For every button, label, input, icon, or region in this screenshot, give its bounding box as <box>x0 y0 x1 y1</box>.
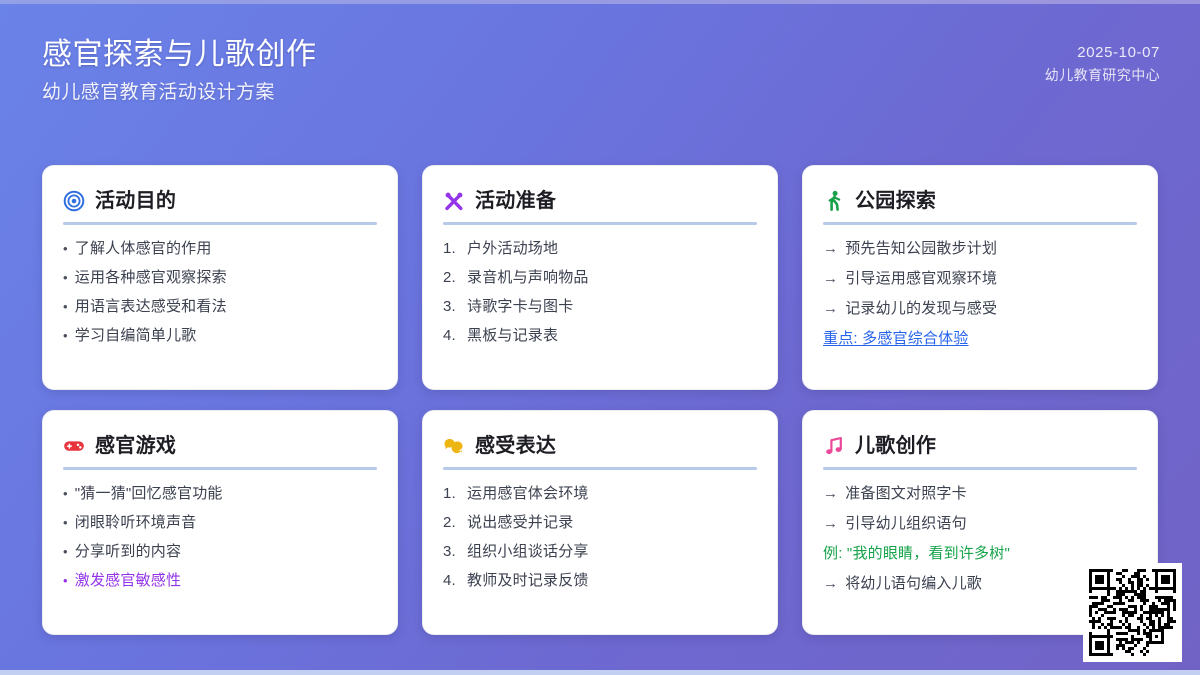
list-marker: → <box>823 483 838 504</box>
list-item: 1.户外活动场地 <box>443 238 757 259</box>
card-title: 公园探索 <box>855 188 936 214</box>
card-body: 1.运用感官体会环境2.说出感受并记录3.组织小组谈话分享4.教师及时记录反馈 <box>443 483 757 591</box>
card-divider <box>63 467 377 470</box>
list-marker: 3. <box>443 296 460 317</box>
list-marker: 4. <box>443 325 460 346</box>
list-marker: 1. <box>443 238 460 259</box>
title-block: 感官探索与儿歌创作 幼儿感官教育活动设计方案 <box>42 36 317 106</box>
list-marker: • <box>63 238 68 259</box>
card-title: 儿歌创作 <box>855 433 936 459</box>
card-5: 感受表达1.运用感官体会环境2.说出感受并记录3.组织小组谈话分享4.教师及时记… <box>422 410 778 635</box>
bullseye-target-icon <box>63 190 85 212</box>
list-item: 1.运用感官体会环境 <box>443 483 757 504</box>
card-body: 1.户外活动场地2.录音机与声响物品3.诗歌字卡与图卡4.黑板与记录表 <box>443 238 757 346</box>
list-item-text: 分享听到的内容 <box>75 541 377 562</box>
card-title: 活动目的 <box>95 188 176 214</box>
list-item: 2.录音机与声响物品 <box>443 267 757 288</box>
list-item: •用语言表达感受和看法 <box>63 296 377 317</box>
list-marker: 1. <box>443 483 460 504</box>
list-item-text: 教师及时记录反馈 <box>467 570 757 591</box>
music-note-icon <box>823 435 845 457</box>
list-marker: • <box>63 541 68 562</box>
card-divider <box>823 467 1137 470</box>
card-header: 儿歌创作 <box>823 432 1137 460</box>
speech-bubbles-icon <box>443 435 465 457</box>
list-item: 4.教师及时记录反馈 <box>443 570 757 591</box>
page-subtitle: 幼儿感官教育活动设计方案 <box>42 80 317 106</box>
list-item-text: 引导运用感官观察环境 <box>845 268 1137 289</box>
list-item: •学习自编简单儿歌 <box>63 325 377 346</box>
list-item: 2.说出感受并记录 <box>443 512 757 533</box>
list-item-text: 了解人体感官的作用 <box>75 238 377 259</box>
list-item: →引导运用感官观察环境 <box>823 268 1137 289</box>
list-marker: • <box>63 325 68 346</box>
card-title: 感官游戏 <box>95 433 176 459</box>
list-item-text: 预先告知公园散步计划 <box>845 238 1137 259</box>
slide-root: 感官探索与儿歌创作 幼儿感官教育活动设计方案 2025-10-07 幼儿教育研究… <box>0 0 1200 675</box>
list-item: •"猜一猜"回忆感官功能 <box>63 483 377 504</box>
list-item-text: 重点: 多感官综合体验 <box>823 328 1137 349</box>
list-item-text: 组织小组谈话分享 <box>467 541 757 562</box>
card-divider <box>443 467 757 470</box>
list-marker: • <box>63 483 68 504</box>
card-header: 感官游戏 <box>63 432 377 460</box>
list-item: •闭眼聆听环境声音 <box>63 512 377 533</box>
list-marker: 3. <box>443 541 460 562</box>
card-header: 活动目的 <box>63 187 377 215</box>
list-marker: → <box>823 238 838 259</box>
list-item-text: 记录幼儿的发现与感受 <box>845 298 1137 319</box>
list-item-text: 用语言表达感受和看法 <box>75 296 377 317</box>
list-item-text: 例: "我的眼睛，看到许多树" <box>823 543 1137 564</box>
qr-code-icon <box>1089 569 1176 656</box>
list-item: →预先告知公园散步计划 <box>823 238 1137 259</box>
page-title: 感官探索与儿歌创作 <box>42 36 317 74</box>
hammer-and-wrench-icon <box>443 190 465 212</box>
organization-text: 幼儿教育研究中心 <box>1045 64 1160 86</box>
list-item-text: 运用感官体会环境 <box>467 483 757 504</box>
list-item-text: 引导幼儿组织语句 <box>845 513 1137 534</box>
list-marker: 2. <box>443 512 460 533</box>
list-item-text: 运用各种感官观察探索 <box>75 267 377 288</box>
list-item: 4.黑板与记录表 <box>443 325 757 346</box>
list-item: 例: "我的眼睛，看到许多树" <box>823 543 1137 564</box>
list-item-text: 学习自编简单儿歌 <box>75 325 377 346</box>
date-text: 2025-10-07 <box>1045 42 1160 64</box>
list-item: 3.组织小组谈话分享 <box>443 541 757 562</box>
card-title: 感受表达 <box>475 433 556 459</box>
game-controller-icon <box>63 435 85 457</box>
qr-code-panel[interactable] <box>1083 563 1182 662</box>
card-title: 活动准备 <box>475 188 556 214</box>
list-marker: • <box>63 512 68 533</box>
list-marker: → <box>823 573 838 594</box>
list-item[interactable]: 重点: 多感官综合体验 <box>823 328 1137 349</box>
slide-header: 感官探索与儿歌创作 幼儿感官教育活动设计方案 2025-10-07 幼儿教育研究… <box>0 0 1200 150</box>
header-meta: 2025-10-07 幼儿教育研究中心 <box>1045 42 1160 86</box>
card-divider <box>443 222 757 225</box>
card-body: •"猜一猜"回忆感官功能•闭眼聆听环境声音•分享听到的内容•激发感官敏感性 <box>63 483 377 591</box>
list-marker: • <box>63 296 68 317</box>
card-grid: 活动目的•了解人体感官的作用•运用各种感官观察探索•用语言表达感受和看法•学习自… <box>42 165 1160 635</box>
card-header: 感受表达 <box>443 432 757 460</box>
list-item-text: 黑板与记录表 <box>467 325 757 346</box>
list-item-text: 准备图文对照字卡 <box>845 483 1137 504</box>
list-marker: 4. <box>443 570 460 591</box>
card-2: 活动准备1.户外活动场地2.录音机与声响物品3.诗歌字卡与图卡4.黑板与记录表 <box>422 165 778 390</box>
list-item-text: 诗歌字卡与图卡 <box>467 296 757 317</box>
card-body: →预先告知公园散步计划→引导运用感官观察环境→记录幼儿的发现与感受重点: 多感官… <box>823 238 1137 349</box>
list-marker: 2. <box>443 267 460 288</box>
list-marker: → <box>823 298 838 319</box>
list-item: 3.诗歌字卡与图卡 <box>443 296 757 317</box>
card-header: 公园探索 <box>823 187 1137 215</box>
list-item-text: 激发感官敏感性 <box>75 570 377 591</box>
card-header: 活动准备 <box>443 187 757 215</box>
bottom-edge-strip <box>0 670 1200 675</box>
list-item-text: 户外活动场地 <box>467 238 757 259</box>
list-marker: • <box>63 570 68 591</box>
card-divider <box>823 222 1137 225</box>
list-item-text: 录音机与声响物品 <box>467 267 757 288</box>
list-marker: → <box>823 513 838 534</box>
list-item: •激发感官敏感性 <box>63 570 377 591</box>
card-1: 活动目的•了解人体感官的作用•运用各种感官观察探索•用语言表达感受和看法•学习自… <box>42 165 398 390</box>
walking-person-icon <box>823 190 845 212</box>
list-marker: → <box>823 268 838 289</box>
card-body: •了解人体感官的作用•运用各种感官观察探索•用语言表达感受和看法•学习自编简单儿… <box>63 238 377 346</box>
list-item: •运用各种感官观察探索 <box>63 267 377 288</box>
list-marker: • <box>63 267 68 288</box>
card-divider <box>63 222 377 225</box>
list-item: →准备图文对照字卡 <box>823 483 1137 504</box>
list-item-text: 说出感受并记录 <box>467 512 757 533</box>
card-4: 感官游戏•"猜一猜"回忆感官功能•闭眼聆听环境声音•分享听到的内容•激发感官敏感… <box>42 410 398 635</box>
list-item: •分享听到的内容 <box>63 541 377 562</box>
card-3: 公园探索→预先告知公园散步计划→引导运用感官观察环境→记录幼儿的发现与感受重点:… <box>802 165 1158 390</box>
list-item: →记录幼儿的发现与感受 <box>823 298 1137 319</box>
list-item: •了解人体感官的作用 <box>63 238 377 259</box>
list-item-text: 闭眼聆听环境声音 <box>75 512 377 533</box>
list-item-text: "猜一猜"回忆感官功能 <box>75 483 377 504</box>
list-item: →引导幼儿组织语句 <box>823 513 1137 534</box>
